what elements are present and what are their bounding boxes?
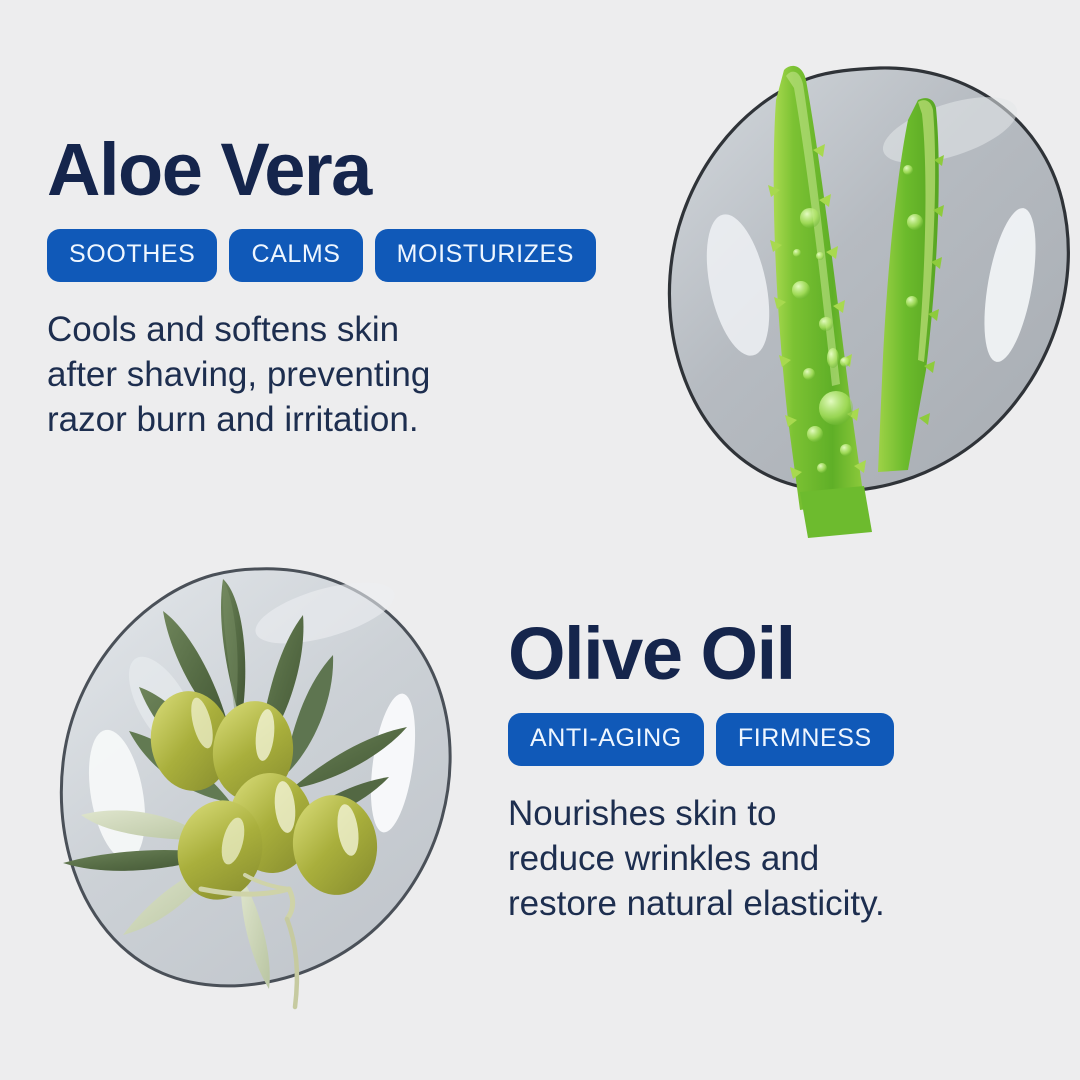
aloe-vera-badge-row: SOOTHES CALMS MOISTURIZES <box>47 229 596 282</box>
olive-oil-badge-row: ANTI-AGING FIRMNESS <box>508 713 894 766</box>
badge-moisturizes[interactable]: MOISTURIZES <box>375 229 596 282</box>
aloe-vera-description: Cools and softens skin after shaving, pr… <box>47 308 596 442</box>
olive-oil-description: Nourishes skin to reduce wrinkles and re… <box>508 792 894 926</box>
olive-desc-line-2: reduce wrinkles and <box>508 837 894 882</box>
aloe-desc-line-2: after shaving, preventing <box>47 353 596 398</box>
aloe-vera-title: Aloe Vera <box>47 133 596 207</box>
badge-firmness[interactable]: FIRMNESS <box>716 713 894 766</box>
badge-calms[interactable]: CALMS <box>229 229 362 282</box>
badge-anti-aging[interactable]: ANTI-AGING <box>508 713 704 766</box>
aloe-desc-line-1: Cools and softens skin <box>47 308 596 353</box>
olive-oil-image <box>45 545 475 1035</box>
aloe-vera-text-block: Aloe Vera SOOTHES CALMS MOISTURIZES Cool… <box>47 133 596 442</box>
olive-oil-text-block: Olive Oil ANTI-AGING FIRMNESS Nourishes … <box>508 617 894 926</box>
olive-desc-line-1: Nourishes skin to <box>508 792 894 837</box>
aloe-desc-line-3: razor burn and irritation. <box>47 398 596 443</box>
olive-oil-title: Olive Oil <box>508 617 894 691</box>
infographic-canvas: Aloe Vera SOOTHES CALMS MOISTURIZES Cool… <box>0 0 1080 1080</box>
grey-gel-blob <box>669 68 1068 491</box>
aloe-vera-image <box>650 40 1080 540</box>
olive-desc-line-3: restore natural elasticity. <box>508 882 894 927</box>
badge-soothes[interactable]: SOOTHES <box>47 229 217 282</box>
